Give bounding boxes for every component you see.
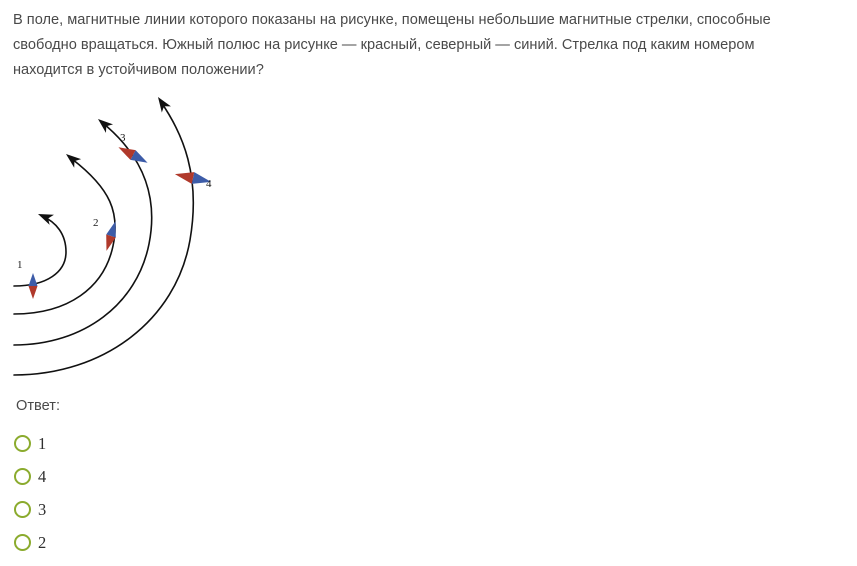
needle-2 <box>102 220 121 253</box>
answer-option-label: 2 <box>38 534 46 551</box>
answer-option-2[interactable]: 2 <box>14 526 314 559</box>
answer-options-list: 1432 <box>14 427 314 559</box>
answer-option-label: 4 <box>38 468 46 485</box>
needle-1-north-pole <box>29 273 38 286</box>
field-line-1-arrowhead-icon <box>36 209 54 225</box>
answer-option-1[interactable]: 1 <box>14 427 314 460</box>
radio-button-2[interactable] <box>14 534 31 551</box>
needle-1-label: 1 <box>17 259 23 271</box>
answer-option-label: 3 <box>38 501 46 518</box>
needle-2-label: 2 <box>93 217 99 229</box>
answer-option-3[interactable]: 3 <box>14 493 314 526</box>
needle-2-north-pole <box>106 220 120 238</box>
needle-3-label: 3 <box>120 132 126 144</box>
field-line-2 <box>14 159 115 314</box>
answer-caption: Ответ: <box>16 396 314 416</box>
field-diagram-svg: 1234 <box>0 86 300 386</box>
radio-button-3[interactable] <box>14 501 31 518</box>
answer-option-4[interactable]: 4 <box>14 460 314 493</box>
question-line-3: находится в устойчивом положении? <box>13 58 857 83</box>
answer-option-label: 1 <box>38 435 46 452</box>
answer-block: Ответ: 1432 <box>14 396 314 559</box>
needle-1 <box>29 273 38 299</box>
field-line-1 <box>14 216 66 286</box>
needle-1-south-pole <box>29 286 38 299</box>
field-line-4 <box>14 102 193 375</box>
needle-4-label: 4 <box>206 178 212 190</box>
question-line-1: В поле, магнитные линии которого показан… <box>13 8 857 33</box>
magnetic-field-figure: 1234 <box>0 86 300 386</box>
field-line-4-arrowhead-icon <box>153 94 171 113</box>
question-line-2: свободно вращаться. Южный полюс на рисун… <box>13 33 857 58</box>
needle-3 <box>116 142 150 167</box>
radio-button-1[interactable] <box>14 435 31 452</box>
radio-button-4[interactable] <box>14 468 31 485</box>
question-text: В поле, магнитные линии которого показан… <box>13 8 857 83</box>
field-lines-group <box>14 94 193 375</box>
